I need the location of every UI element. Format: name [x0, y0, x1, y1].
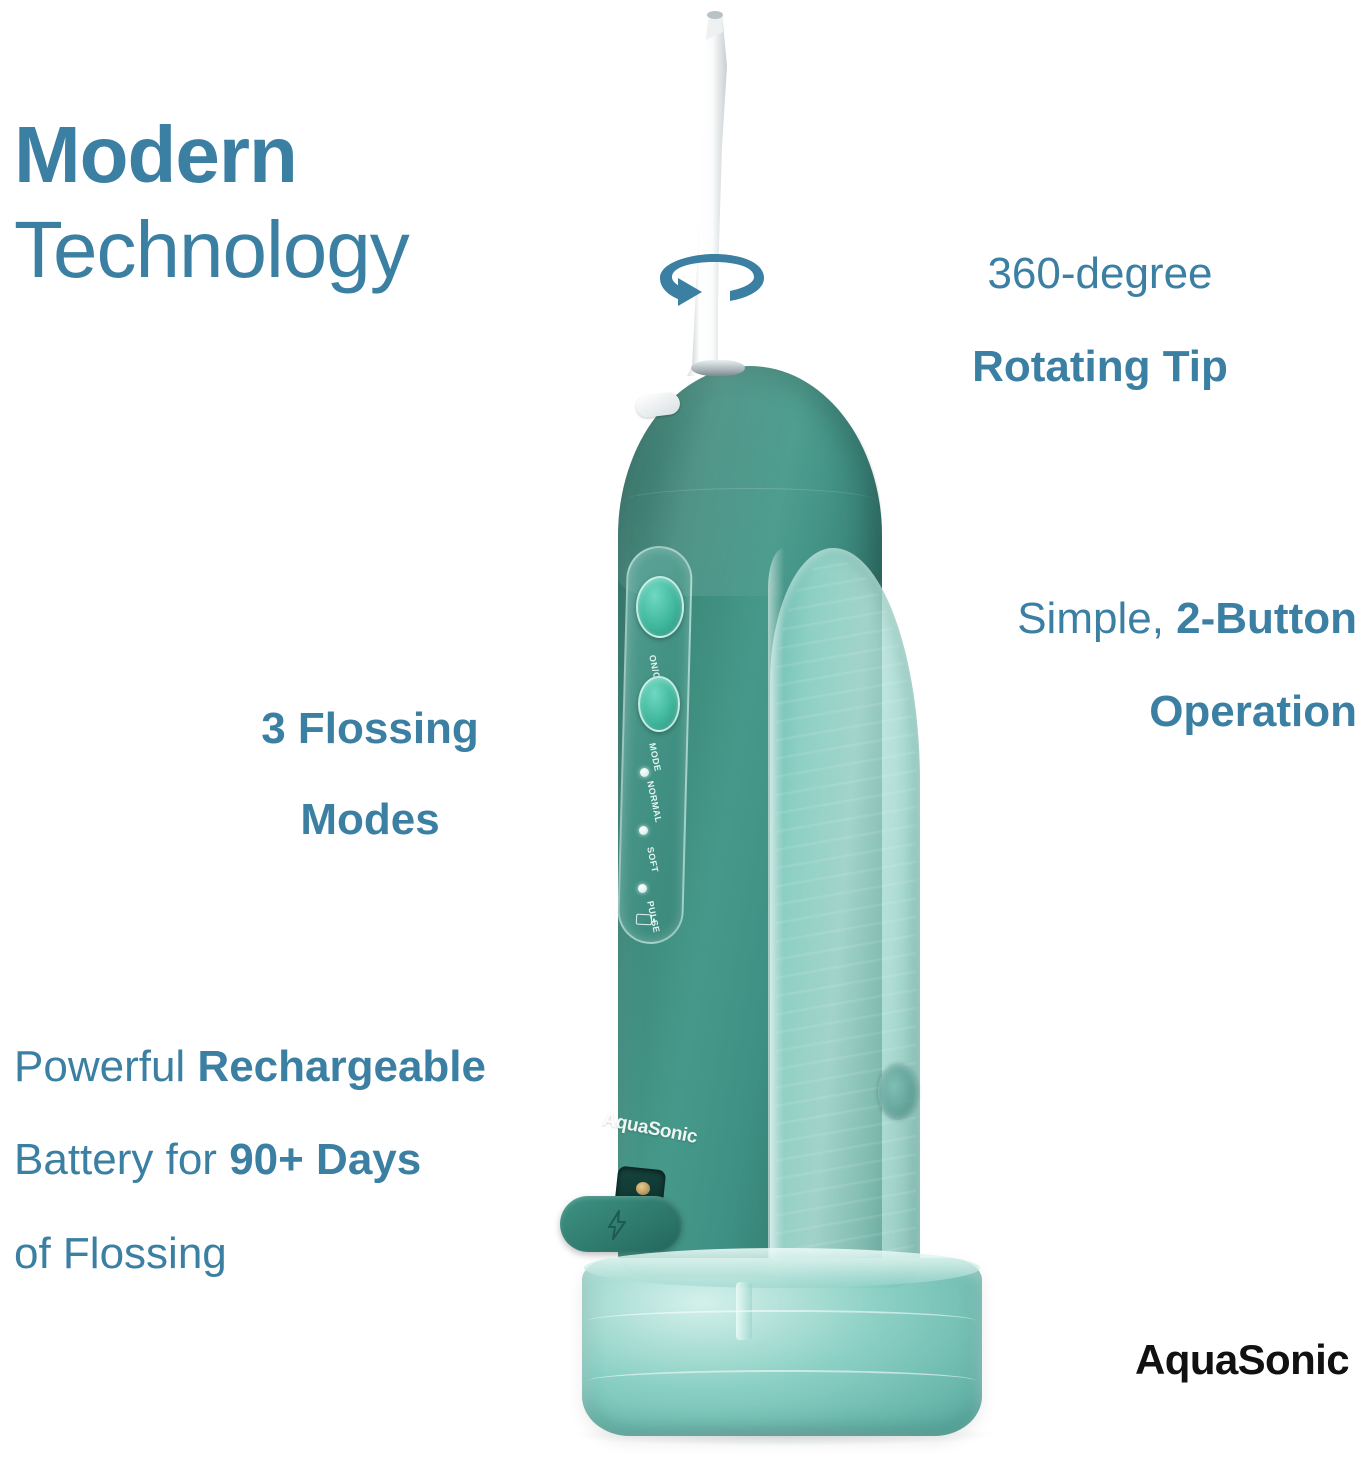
- callout-battery-regular-2: Battery for: [14, 1135, 229, 1184]
- product-infographic: Modern Technology 360-degree Rotating Ti…: [0, 0, 1365, 1466]
- callout-battery-regular-1: Powerful: [14, 1042, 197, 1091]
- callout-two-button-regular: Simple,: [1017, 594, 1176, 643]
- battery-icon: [636, 914, 653, 926]
- callout-battery-line-1: Powerful Rechargeable: [14, 1044, 614, 1090]
- callout-battery-bold-2: 90+ Days: [229, 1135, 421, 1184]
- rotation-arrow-icon: [644, 248, 776, 320]
- device-base-reservoir: [582, 1258, 982, 1436]
- nozzle-tip-icon: [678, 6, 744, 376]
- led-indicator-normal: [640, 768, 649, 777]
- callout-flossing-modes-line-2: Modes: [200, 797, 540, 843]
- power-button[interactable]: [636, 576, 684, 638]
- mode-button[interactable]: [638, 676, 680, 732]
- led-indicator-pulse: [638, 884, 647, 893]
- callout-battery-bold-1: Rechargeable: [197, 1042, 486, 1091]
- callout-two-button-bold: 2-Button: [1176, 594, 1357, 643]
- nozzle-collar: [691, 360, 745, 376]
- lightning-bolt-icon: [606, 1210, 628, 1240]
- product-image-water-flosser: ON/OFF MODE NORMAL SOFT PULSE AquaSonic: [540, 0, 1020, 1450]
- charging-port-pin: [636, 1182, 650, 1195]
- callout-battery-line-2: Battery for 90+ Days: [14, 1137, 614, 1183]
- brand-logo: AquaSonic: [1135, 1336, 1349, 1384]
- base-inner-stem: [736, 1282, 752, 1340]
- callout-battery-line-3: of Flossing: [14, 1231, 614, 1277]
- callout-rechargeable-battery: Powerful Rechargeable Battery for 90+ Da…: [14, 996, 614, 1322]
- callout-flossing-modes-line-1: 3 Flossing: [200, 706, 540, 752]
- water-tank-valve[interactable]: [878, 1064, 918, 1120]
- led-indicator-soft: [639, 826, 648, 835]
- callout-flossing-modes: 3 Flossing Modes: [200, 660, 540, 889]
- water-tank: [770, 548, 920, 1288]
